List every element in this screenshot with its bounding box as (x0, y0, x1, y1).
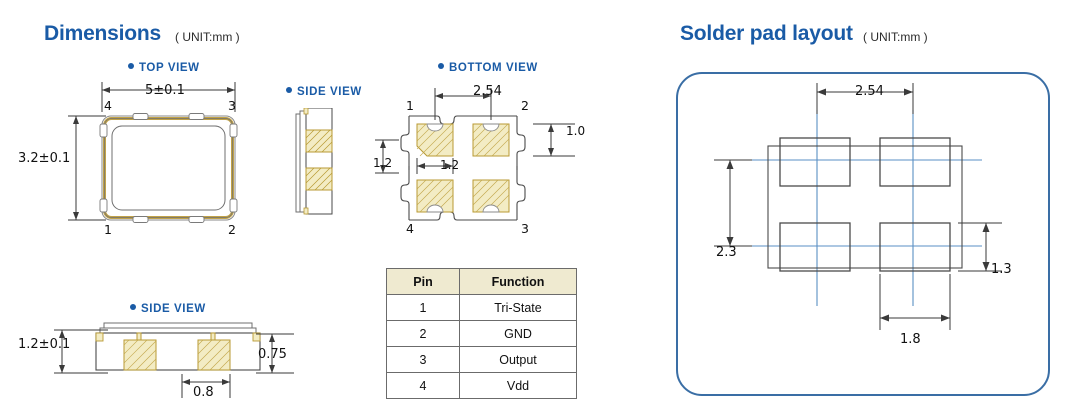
table-header-pin: Pin (387, 269, 460, 295)
top-view-label: TOP VIEW (128, 62, 200, 74)
solder-pad-section-title: Solder pad layout (680, 22, 853, 46)
pin-function: Tri-State (460, 295, 577, 321)
bottom-view-label-text: BOTTOM VIEW (449, 62, 538, 74)
dimensions-section-title: Dimensions (44, 22, 161, 46)
pin-number: 4 (387, 373, 460, 399)
bullet-icon (130, 304, 136, 310)
side-view-body-height-dimension: 0.75 (258, 347, 287, 362)
bottom-view-pin-3: 3 (521, 221, 529, 236)
bottom-view-pad-width-dimension: 1.2 (440, 158, 459, 172)
side-view-bottom-label: SIDE VIEW (130, 303, 206, 315)
pin-function-table: Pin Function 1 Tri-State 2 GND 3 Output … (386, 268, 577, 399)
bottom-view-pitch-dimension: 2.54 (473, 84, 502, 99)
top-view-pin-2: 2 (228, 222, 236, 237)
top-view-pin-3: 3 (228, 98, 236, 113)
side-view-right-label: SIDE VIEW (286, 86, 362, 98)
pin-number: 1 (387, 295, 460, 321)
table-row: 2 GND (387, 321, 577, 347)
bottom-view-label: BOTTOM VIEW (438, 62, 538, 74)
solder-pad-drawing (690, 78, 1040, 393)
side-view-bottom-label-text: SIDE VIEW (141, 303, 206, 315)
side-view-right-label-text: SIDE VIEW (297, 86, 362, 98)
bullet-icon (438, 63, 444, 69)
top-view-height-dimension: 3.2±0.1 (18, 151, 70, 166)
top-view-label-text: TOP VIEW (139, 62, 200, 74)
solder-pad-width-dimension: 1.8 (900, 332, 921, 347)
side-view-right-drawing (288, 108, 348, 223)
top-view-pin-4: 4 (104, 98, 112, 113)
technical-drawing-page: Dimensions ( UNIT:mm ) TOP VIEW (0, 0, 1080, 420)
dimensions-unit-label: ( UNIT:mm ) (175, 30, 240, 44)
bottom-view-pin-4: 4 (406, 221, 414, 236)
table-header-row: Pin Function (387, 269, 577, 295)
pin-function: GND (460, 321, 577, 347)
top-view-width-dimension: 5±0.1 (145, 83, 185, 98)
bullet-icon (128, 63, 134, 69)
pin-function: Output (460, 347, 577, 373)
bullet-icon (286, 87, 292, 93)
bottom-view-pin-2: 2 (521, 98, 529, 113)
side-view-thickness-dimension: 1.2±0.1 (18, 337, 70, 352)
top-view-drawing (40, 78, 290, 243)
solder-pad-pitch-x-dimension: 2.54 (855, 84, 884, 99)
pin-number: 3 (387, 347, 460, 373)
side-view-pad-width-dimension: 0.8 (193, 385, 214, 400)
pin-function: Vdd (460, 373, 577, 399)
pin-number: 2 (387, 321, 460, 347)
bottom-view-drawing (365, 78, 615, 243)
table-row: 1 Tri-State (387, 295, 577, 321)
table-row: 3 Output (387, 347, 577, 373)
table-header-function: Function (460, 269, 577, 295)
solder-pad-pitch-y-dimension: 2.3 (716, 245, 737, 260)
bottom-view-pad-height-dimension: 1.2 (373, 156, 392, 170)
solder-pad-unit-label: ( UNIT:mm ) (863, 30, 928, 44)
bottom-view-edge-offset-dimension: 1.0 (566, 124, 585, 138)
bottom-view-pin-1: 1 (406, 98, 414, 113)
side-view-bottom-drawing (28, 318, 298, 413)
table-row: 4 Vdd (387, 373, 577, 399)
top-view-pin-1: 1 (104, 222, 112, 237)
solder-pad-height-dimension: 1.3 (991, 262, 1012, 277)
